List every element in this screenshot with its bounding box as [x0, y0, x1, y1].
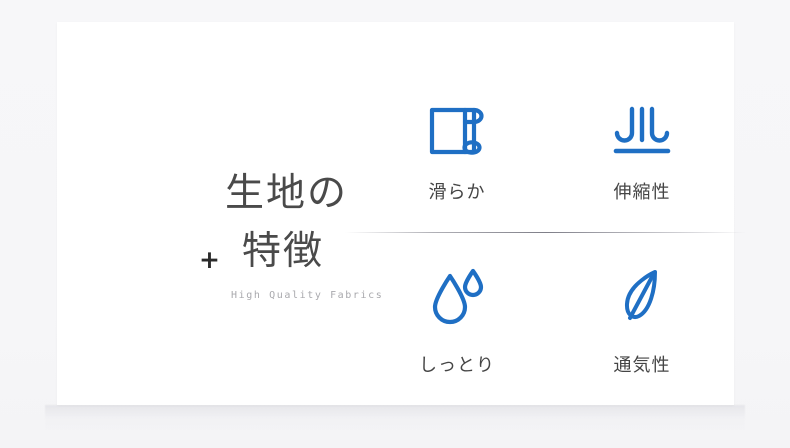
feature-label: 伸縮性: [562, 178, 722, 204]
page-title-line-1: 生地の: [225, 172, 348, 216]
page-subtitle: High Quality Fabrics: [231, 290, 383, 301]
feature-grid: 滑らか 伸縮性: [377, 100, 747, 390]
leaf-icon: [562, 265, 722, 327]
heading-block: + 生地の 特徴 High Quality Fabrics: [187, 162, 387, 312]
plus-mark-icon: +: [199, 247, 220, 272]
slide-card: + 生地の 特徴 High Quality Fabrics: [57, 22, 734, 405]
feature-label: 通気性: [562, 351, 722, 377]
feature-item-smooth[interactable]: 滑らか: [377, 100, 537, 204]
fabric-roll-icon: [377, 100, 537, 162]
feature-item-moist[interactable]: しっとり: [377, 265, 537, 377]
feature-item-breathable[interactable]: 通気性: [562, 265, 722, 377]
water-droplet-icon: [377, 265, 537, 327]
slide-stage: + 生地の 特徴 High Quality Fabrics: [0, 0, 790, 448]
feature-item-stretch[interactable]: 伸縮性: [562, 100, 722, 204]
page-title-line-2: 特徴: [242, 230, 324, 274]
feature-label: しっとり: [377, 351, 537, 377]
stretch-icon: [562, 100, 722, 162]
feature-label: 滑らか: [377, 178, 537, 204]
slide-reflection: [45, 405, 745, 431]
